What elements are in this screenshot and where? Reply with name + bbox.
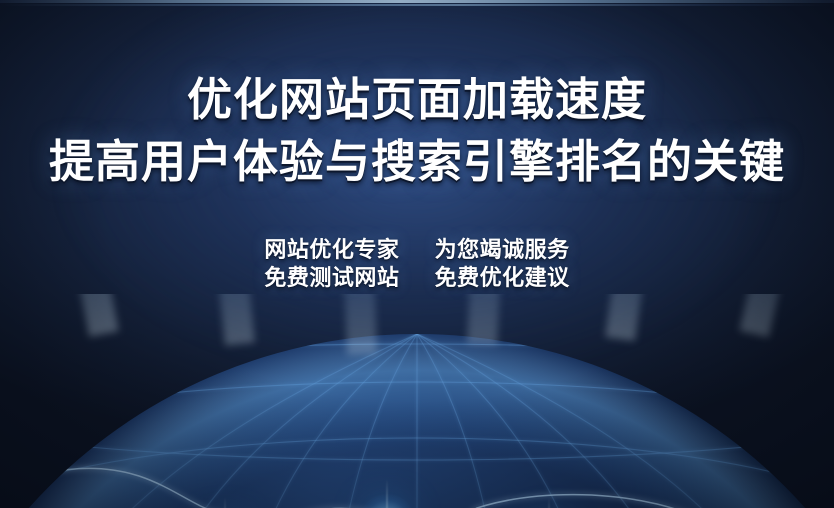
subheadline-1-right: 为您竭诚服务 [435, 237, 570, 262]
subheadline-1-left: 网站优化专家 [264, 237, 399, 262]
seo-promo-banner: 优化网站页面加载速度 提高用户体验与搜索引擎排名的关键 网站优化专家 为您竭诚服… [0, 0, 834, 508]
headline: 优化网站页面加载速度 提高用户体验与搜索引擎排名的关键 [0, 76, 834, 185]
subheadline-line-2: 免费测试网站 免费优化建议 [0, 264, 834, 292]
subheadline-2-right: 免费优化建议 [435, 265, 570, 290]
subheadline: 网站优化专家 为您竭诚服务 免费测试网站 免费优化建议 [0, 236, 834, 292]
headline-line-1: 优化网站页面加载速度 [0, 76, 834, 124]
text-layer: 优化网站页面加载速度 提高用户体验与搜索引擎排名的关键 网站优化专家 为您竭诚服… [0, 0, 834, 508]
subheadline-2-left: 免费测试网站 [264, 265, 399, 290]
subheadline-line-1: 网站优化专家 为您竭诚服务 [0, 236, 834, 264]
headline-line-2: 提高用户体验与搜索引擎排名的关键 [0, 138, 834, 186]
